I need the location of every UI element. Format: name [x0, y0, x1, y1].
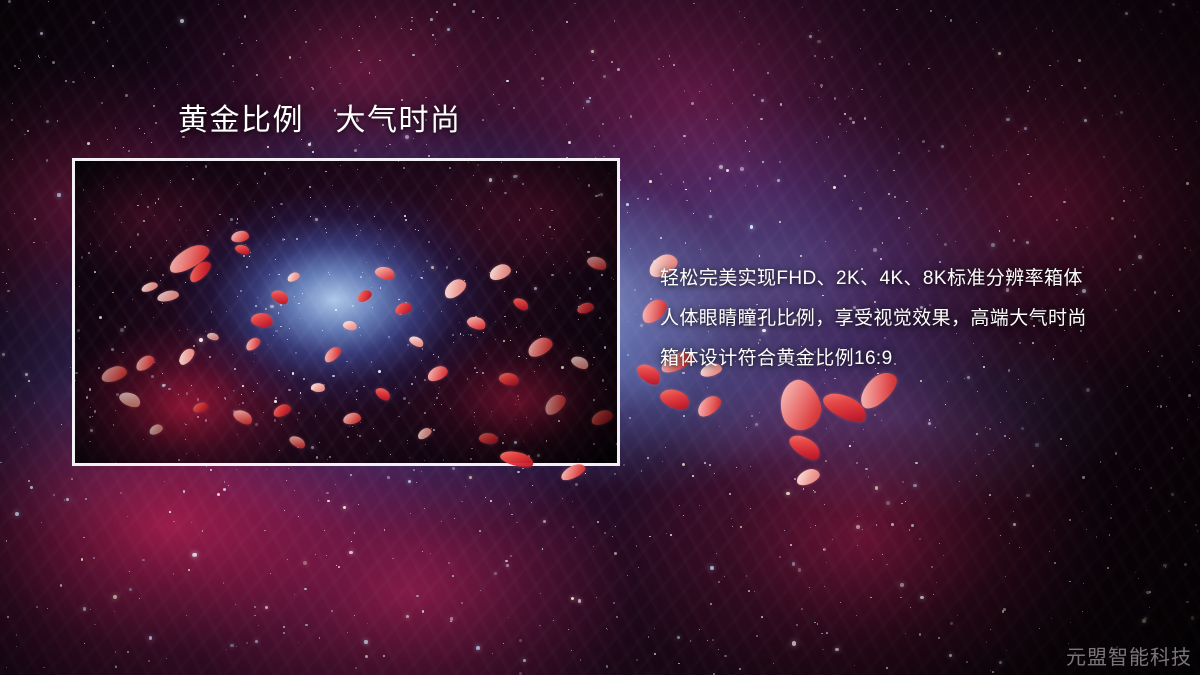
body-line-3: 箱体设计符合黄金比例16:9	[660, 339, 1180, 379]
panel-vignette	[75, 161, 617, 463]
body-line-2: 人体眼睛瞳孔比例，享受视觉效果，高端大气时尚	[660, 299, 1180, 339]
body-text-block: 轻松完美实现FHD、2K、4K、8K标准分辨率箱体 人体眼睛瞳孔比例，享受视觉效…	[660, 259, 1180, 379]
slide-canvas: 黄金比例 大气时尚 轻松完美实现FHD、2K、4K、8K标准分辨率箱体 人体眼睛…	[0, 0, 1200, 675]
panel-image-content	[75, 161, 617, 463]
page-title: 黄金比例 大气时尚	[178, 101, 462, 141]
framed-image-panel	[72, 158, 620, 466]
body-line-1: 轻松完美实现FHD、2K、4K、8K标准分辨率箱体	[660, 259, 1180, 299]
watermark-label: 元盟智能科技	[1066, 641, 1192, 670]
